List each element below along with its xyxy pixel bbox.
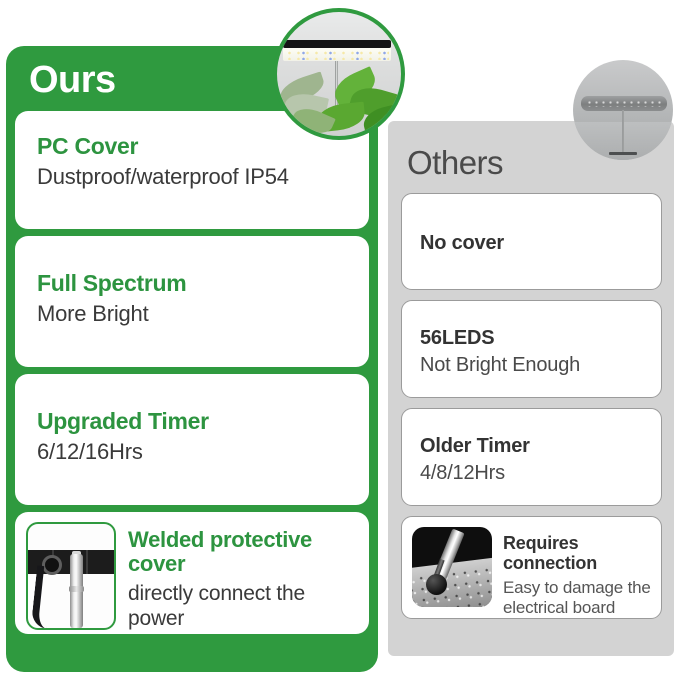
others-product-photo-circle <box>573 60 673 160</box>
others-card-subtitle: 4/8/12Hrs <box>420 460 647 486</box>
ours-card-title: Upgraded Timer <box>37 408 353 435</box>
requires-connection-thumbnail-image <box>412 527 492 607</box>
pole-band-shape <box>69 586 84 592</box>
others-card-title: 56LEDS <box>420 327 647 350</box>
competitor-led-bar-shape <box>581 96 667 111</box>
ours-feature-card-full-spectrum: Full Spectrum More Bright <box>15 236 369 367</box>
power-cable-shape <box>31 565 53 628</box>
perforated-led-board-shape <box>412 558 492 607</box>
ours-card-text-block: Welded protective cover directly connect… <box>128 522 357 632</box>
led-bar-housing-shape <box>283 40 391 48</box>
others-card-subtitle: Easy to damage the electrical board <box>503 578 651 619</box>
ours-card-subtitle: More Bright <box>37 300 353 329</box>
others-card-subtitle: Not Bright Enough <box>420 352 647 378</box>
competitor-stand-base-shape <box>609 152 637 155</box>
ours-card-title: Welded protective cover <box>128 528 357 576</box>
ours-feature-card-upgraded-timer: Upgraded Timer 6/12/16Hrs <box>15 374 369 505</box>
others-panel: Others No cover 56LEDS Not Bright Enough… <box>388 121 674 656</box>
housing-seam-shape <box>86 550 88 574</box>
ours-product-photo-circle <box>273 8 405 140</box>
others-card-text-block: Requires connection Easy to damage the e… <box>503 527 651 619</box>
ours-card-title: Full Spectrum <box>37 270 353 297</box>
others-card-title: No cover <box>420 232 647 255</box>
others-card-title: Older Timer <box>420 435 647 458</box>
welded-cover-thumbnail-image <box>26 522 116 630</box>
others-card-title: Requires connection <box>503 533 651 573</box>
others-feature-card-56leds: 56LEDS Not Bright Enough <box>401 300 662 398</box>
others-feature-card-requires-connection: Requires connection Easy to damage the e… <box>401 516 662 619</box>
led-diode-panel-shape <box>283 48 391 61</box>
ours-card-subtitle: directly connect the power <box>128 581 357 631</box>
others-feature-card-older-timer: Older Timer 4/8/12Hrs <box>401 408 662 506</box>
ours-card-subtitle: 6/12/16Hrs <box>37 438 353 467</box>
ours-card-title: PC Cover <box>37 133 353 160</box>
ours-card-subtitle: Dustproof/waterproof IP54 <box>37 163 353 192</box>
competitor-stand-pole-shape <box>622 110 624 154</box>
others-feature-card-no-cover: No cover <box>401 193 662 290</box>
ours-panel: Ours PC Cover Dustproof/waterproof IP54 … <box>6 46 378 672</box>
ours-feature-card-welded-cover: Welded protective cover directly connect… <box>15 512 369 634</box>
